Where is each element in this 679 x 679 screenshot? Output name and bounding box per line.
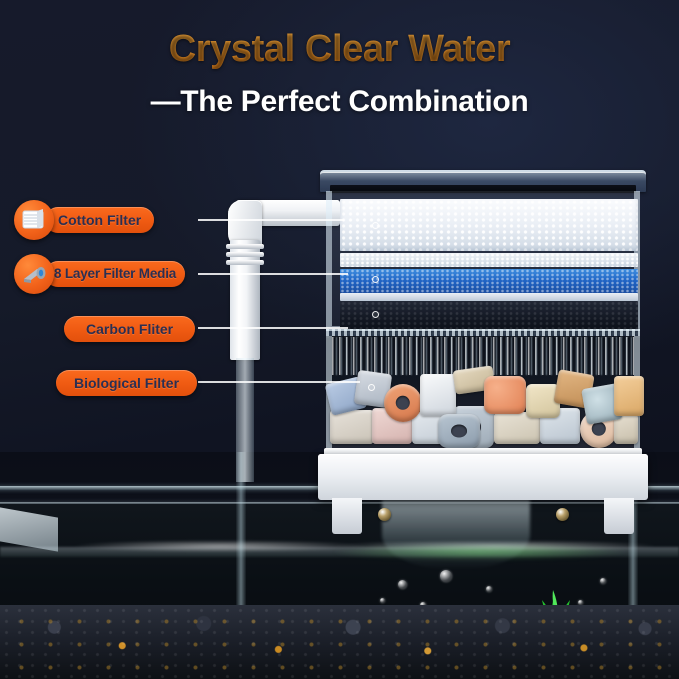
surface-foam-left	[70, 540, 370, 552]
leader-dot-cotton	[372, 222, 379, 229]
filter-media-chamber	[326, 191, 640, 329]
bubble	[600, 578, 606, 584]
bio-media-group	[328, 366, 638, 458]
leader-line-media	[198, 273, 348, 275]
product-marketing-image: Cotton Filter 8 Layer Filter Media Carbo…	[0, 0, 679, 679]
leader-line-carbon	[198, 327, 348, 329]
aquarium-filter-unit	[318, 170, 648, 520]
outflow-green-tint	[330, 544, 630, 560]
label-biological-filter[interactable]: Biological Filter	[56, 370, 197, 396]
white-media-layer	[340, 253, 638, 267]
mounting-bolt-right	[556, 508, 569, 521]
label-cotton-filter[interactable]: Cotton Filter	[14, 200, 154, 240]
cotton-filter-layer	[340, 199, 638, 251]
pipe-rib	[226, 244, 264, 249]
cotton-pad-icon	[14, 200, 54, 240]
leader-dot-carbon	[372, 311, 379, 318]
bubble	[486, 586, 492, 592]
headline-subtitle: —The Perfect Combination	[0, 86, 679, 118]
bubble	[398, 580, 407, 589]
label-text-cotton-filter: Cotton Filter	[45, 207, 154, 233]
bio-media-piece	[420, 374, 456, 416]
label-carbon-filter[interactable]: Carbon Fliter	[64, 316, 195, 342]
blue-filter-media-layer	[340, 269, 638, 293]
leader-line-biological	[198, 381, 360, 383]
bio-media-piece	[330, 410, 374, 444]
pipe-vertical-section	[230, 240, 260, 360]
bio-media-piece	[484, 376, 526, 414]
label-8-layer-filter-media[interactable]: 8 Layer Filter Media	[14, 254, 185, 294]
bio-media-ring	[438, 414, 480, 448]
label-text-carbon-filter: Carbon Fliter	[64, 316, 195, 342]
headline-block: Crystal Clear Water —The Perfect Combina…	[0, 30, 679, 117]
base-leg-right	[604, 498, 634, 534]
base-leg-left	[332, 498, 362, 534]
aquarium-gravel-texture	[0, 605, 679, 679]
bubble	[440, 570, 452, 582]
mounting-bolt-left	[378, 508, 391, 521]
leader-dot-biological	[368, 384, 375, 391]
leader-line-cotton	[198, 219, 344, 221]
filter-roll-icon	[14, 254, 54, 294]
label-text-biological-filter: Biological Filter	[56, 370, 197, 396]
pipe-rib	[226, 260, 264, 265]
white-separator-layer	[340, 293, 638, 301]
bubble	[380, 598, 385, 603]
label-text-8-layer-filter-media: 8 Layer Filter Media	[45, 261, 185, 287]
leader-dot-media	[372, 276, 379, 283]
headline-main: Crystal Clear Water	[0, 30, 679, 70]
bio-media-piece	[614, 376, 644, 416]
bio-media-ring	[384, 384, 422, 422]
filter-base-housing	[318, 454, 648, 500]
pipe-rib	[226, 252, 264, 257]
pipe-intake-tube	[236, 358, 254, 482]
